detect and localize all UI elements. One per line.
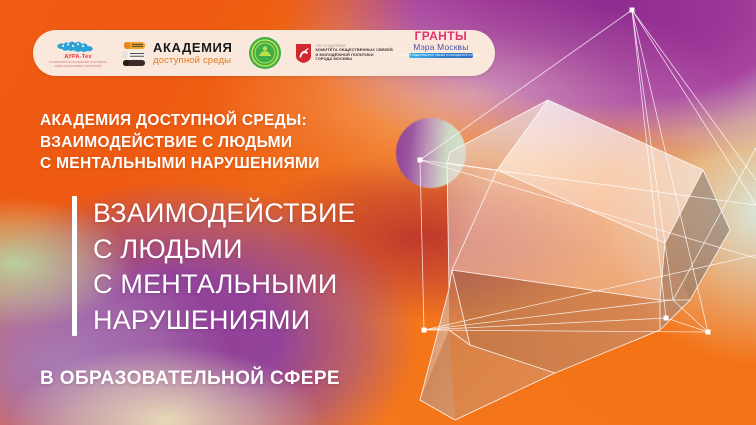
main-title-block: ВЗАИМОДЕЙСТВИЕ С ЛЮДЬМИ С МЕНТАЛЬНЫМИ НА… [72, 196, 356, 338]
logo-moscow-grants: ГРАНТЫ Мэра Москвы КОМИТЕТ ОБЩЕСТВЕННЫХ … [409, 30, 473, 76]
moscow-line-3: ГОРОДА МОСКВЫ [315, 57, 392, 62]
logo-academy: АКАДЕМИЯ доступной среды [121, 30, 232, 76]
kicker-line-1: АКАДЕМИЯ ДОСТУПНОЙ СРЕДЫ: [40, 110, 440, 132]
logo-moscow-committee: ПРИ ПОДДЕРЖКЕ КОМИТЕТА ОБЩЕСТВЕННЫХ СВЯЗ… [296, 30, 392, 76]
footer-subtitle: В ОБРАЗОВАТЕЛЬНОЙ СФЕРЕ [40, 368, 340, 390]
logo-aura-tech: АУРА-Тех НАЦИОНАЛЬНАЯ АССОЦИАЦИЯ УЧАСТНИ… [47, 30, 109, 76]
russia-map-icon [55, 38, 101, 53]
academy-subtitle: доступной среды [153, 55, 232, 66]
sponsor-logo-bar: АУРА-Тех НАЦИОНАЛЬНАЯ АССОЦИАЦИЯ УЧАСТНИ… [33, 30, 495, 76]
kicker-line-2: ВЗАИМОДЕЙСТВИЕ С ЛЮДЬМИ [40, 132, 440, 154]
title-line-2: С ЛЮДЬМИ [93, 232, 356, 268]
moscow-coat-of-arms-icon [296, 44, 311, 63]
title-line-4: НАРУШЕНИЯМИ [93, 303, 356, 339]
aura-subtitle: НАЦИОНАЛЬНАЯ АССОЦИАЦИЯ УЧАСТНИКОВ РЫНКА… [48, 61, 108, 67]
academy-title: АКАДЕМИЯ [153, 41, 232, 55]
grants-blue-bar: КОМИТЕТ ОБЩЕСТВЕННЫХ СВЯЗЕЙ И МОЛОДЁЖНОЙ… [409, 53, 473, 58]
kicker-heading: АКАДЕМИЯ ДОСТУПНОЙ СРЕДЫ: ВЗАИМОДЕЙСТВИЕ… [40, 110, 440, 175]
page-title: ВЗАИМОДЕЙСТВИЕ С ЛЮДЬМИ С МЕНТАЛЬНЫМИ НА… [93, 196, 356, 338]
grants-title: ГРАНТЫ [415, 30, 468, 42]
books-icon [121, 39, 147, 67]
title-line-3: С МЕНТАЛЬНЫМИ [93, 267, 356, 303]
grants-subtitle: Мэра Москвы [413, 43, 468, 52]
green-seal-icon [248, 36, 282, 70]
grants-bar-text: КОМИТЕТ ОБЩЕСТВЕННЫХ СВЯЗЕЙ И МОЛОДЁЖНОЙ… [399, 54, 482, 57]
polyhedron-faces [420, 100, 730, 420]
aura-name: АУРА-Тех [64, 54, 91, 60]
poster-canvas: АУРА-Тех НАЦИОНАЛЬНАЯ АССОЦИАЦИЯ УЧАСТНИ… [0, 0, 756, 425]
title-line-1: ВЗАИМОДЕЙСТВИЕ [93, 196, 356, 232]
title-accent-bar [72, 196, 77, 336]
kicker-line-3: С МЕНТАЛЬНЫМИ НАРУШЕНИЯМИ [40, 153, 440, 175]
